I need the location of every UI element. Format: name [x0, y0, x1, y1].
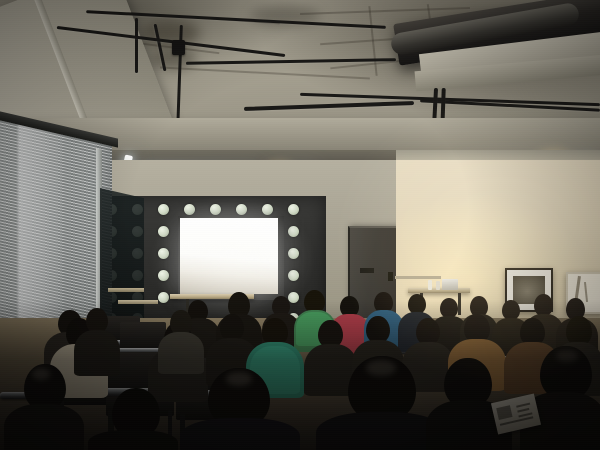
photo-scene: [0, 0, 600, 450]
bottle: [436, 281, 440, 290]
bottle: [428, 280, 432, 290]
laptop[interactable]: [442, 279, 458, 290]
junction-box: [172, 40, 185, 55]
door-handle[interactable]: [388, 272, 393, 281]
projection-screen: [180, 218, 278, 294]
right-wall-rail: [395, 276, 441, 279]
shelf: [118, 300, 158, 304]
door-plate: [360, 268, 374, 273]
shelf: [108, 288, 144, 292]
table-leg: [458, 293, 461, 315]
ceiling-drop-pipe: [135, 18, 138, 73]
